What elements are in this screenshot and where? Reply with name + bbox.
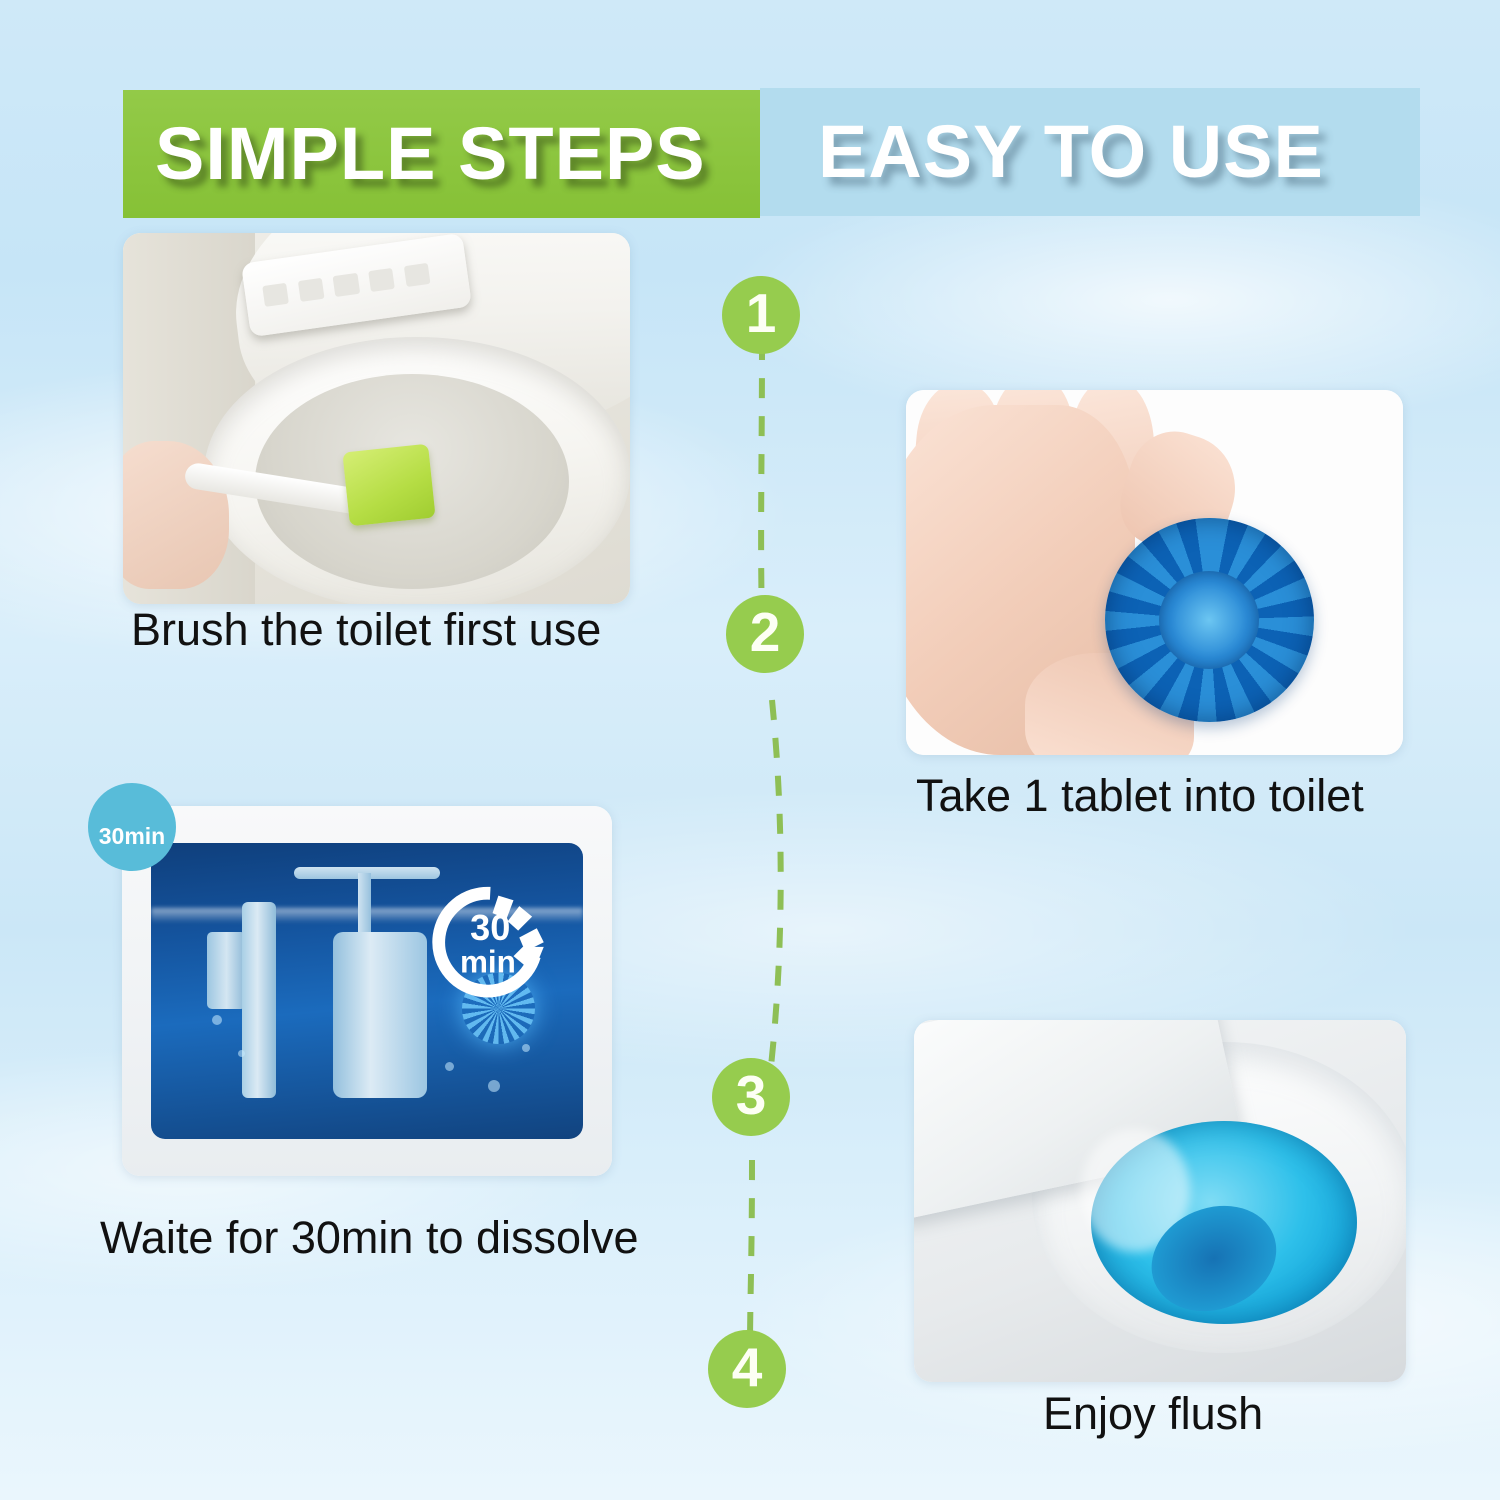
step-badge-2[interactable]: 2 (726, 595, 804, 673)
timer-unit: min (460, 945, 516, 980)
step-badge-3-number: 3 (736, 1068, 767, 1123)
blue-toilet-tablet (1105, 518, 1314, 722)
green-cleaning-sponge (342, 444, 435, 527)
toilet-bowl-blue-water-photo (914, 1020, 1406, 1382)
step-2-photo-card (906, 390, 1403, 755)
timer-value: 30 (470, 907, 510, 948)
banner-title-easy-to-use: EASY TO USE (818, 115, 1324, 189)
thirty-minute-bubble-badge: 30min (88, 783, 176, 871)
banner-easy-to-use: EASY TO USE (760, 88, 1420, 216)
step-badge-1-number: 1 (746, 286, 777, 341)
toilet-cistern-tablet-dissolving-photo: 30 min (122, 806, 612, 1176)
step-1-photo-card (123, 233, 630, 604)
hand-holding-blue-tablet-photo (906, 390, 1403, 755)
banner-title-simple-steps: SIMPLE STEPS (155, 117, 706, 191)
banner-simple-steps: SIMPLE STEPS (123, 90, 760, 218)
step-connector-path (690, 280, 840, 1410)
step-2-caption: Take 1 tablet into toilet (916, 773, 1364, 818)
thirty-minute-timer-icon: 30 min (432, 884, 548, 1000)
step-badge-4[interactable]: 4 (708, 1330, 786, 1408)
step-4-caption: Enjoy flush (1043, 1391, 1263, 1436)
infographic-canvas: SIMPLE STEPS EASY TO USE Brush the toile… (0, 0, 1500, 1500)
step-1-caption: Brush the toilet first use (131, 607, 601, 652)
step-badge-1[interactable]: 1 (722, 276, 800, 354)
step-badge-2-number: 2 (750, 605, 781, 660)
step-4-photo-card (914, 1020, 1406, 1382)
toilet-brushing-photo (123, 233, 630, 604)
step-3-photo-card: 30 min (122, 806, 612, 1176)
thirty-minute-bubble-label: 30min (99, 823, 165, 850)
step-badge-4-number: 4 (732, 1340, 763, 1395)
step-3-caption: Waite for 30min to dissolve (100, 1215, 639, 1260)
step-badge-3[interactable]: 3 (712, 1058, 790, 1136)
